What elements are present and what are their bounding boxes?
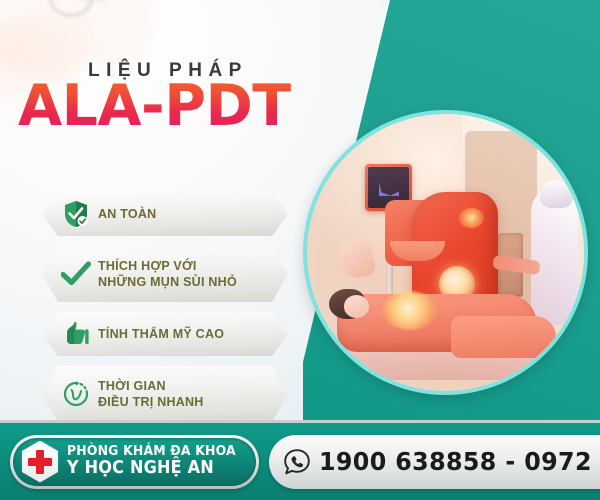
thumbs-up-icon [42,312,98,356]
photo-patient-arm [336,235,378,281]
clinic-name-pill[interactable]: PHÒNG KHÁM ĐA KHOA Y HỌC NGHỆ AN [10,435,259,489]
red-cross-hexagon-icon [19,441,61,483]
hero-area: LIỆU PHÁP ALA-PDT ALA-PDT AN TOÀN [0,0,600,420]
phone-number-pill[interactable]: 1900 638858 - 0972 698858 [269,435,600,489]
photo-patient-face [344,295,369,317]
photo-light-on-patient [382,291,437,330]
phone-numbers-text: 1900 638858 - 0972 698858 [319,447,600,476]
feature-badge-label: TÍNH THẨM MỸ CAO [98,326,232,343]
promo-poster: LIỆU PHÁP ALA-PDT ALA-PDT AN TOÀN [0,0,600,500]
feature-badge-label: AN TOÀN [98,206,164,223]
footer-bar: PHÒNG KHÁM ĐA KHOA Y HỌC NGHỆ AN 1900 63… [0,420,600,500]
feature-badge-tham-my[interactable]: TÍNH THẨM MỸ CAO [42,312,288,356]
photo-nurse-cap [540,180,573,208]
feature-badge-label: THỜI GIAN ĐIỀU TRỊ NHANH [98,378,212,411]
feature-badge-thich-hop[interactable]: THÍCH HỢP VỚI NHỮNG MỤN SÙI NHỎ [42,246,288,302]
photo-machine-glow [459,208,484,227]
stopwatch-icon [42,366,98,420]
cross-horizontal-bar [28,458,52,466]
photo-patient-legs [451,316,556,358]
treatment-photo-ring [303,110,588,395]
clinic-name-text: PHÒNG KHÁM ĐA KHOA Y HỌC NGHỆ AN [67,445,256,478]
treatment-photo [307,114,584,391]
shield-check-icon [42,192,98,236]
clinic-name-line1: PHÒNG KHÁM ĐA KHOA [67,445,236,459]
brand-title: ALA-PDT [18,78,291,135]
feature-badge-list: AN TOÀN THÍCH HỢP VỚI NHỮNG MỤN SÙI NHỎ [42,192,292,420]
clinic-name-line2: Y HỌC NGHỆ AN [67,460,236,478]
feature-badge-thoi-gian[interactable]: THỜI GIAN ĐIỀU TRỊ NHANH [42,366,288,420]
phone-in-speech-bubble-icon [283,448,311,476]
feature-badge-an-toan[interactable]: AN TOÀN [42,192,288,236]
check-mark-icon [42,246,98,302]
feature-badge-label: THÍCH HỢP VỚI NHỮNG MỤN SÙI NHỎ [98,258,245,291]
